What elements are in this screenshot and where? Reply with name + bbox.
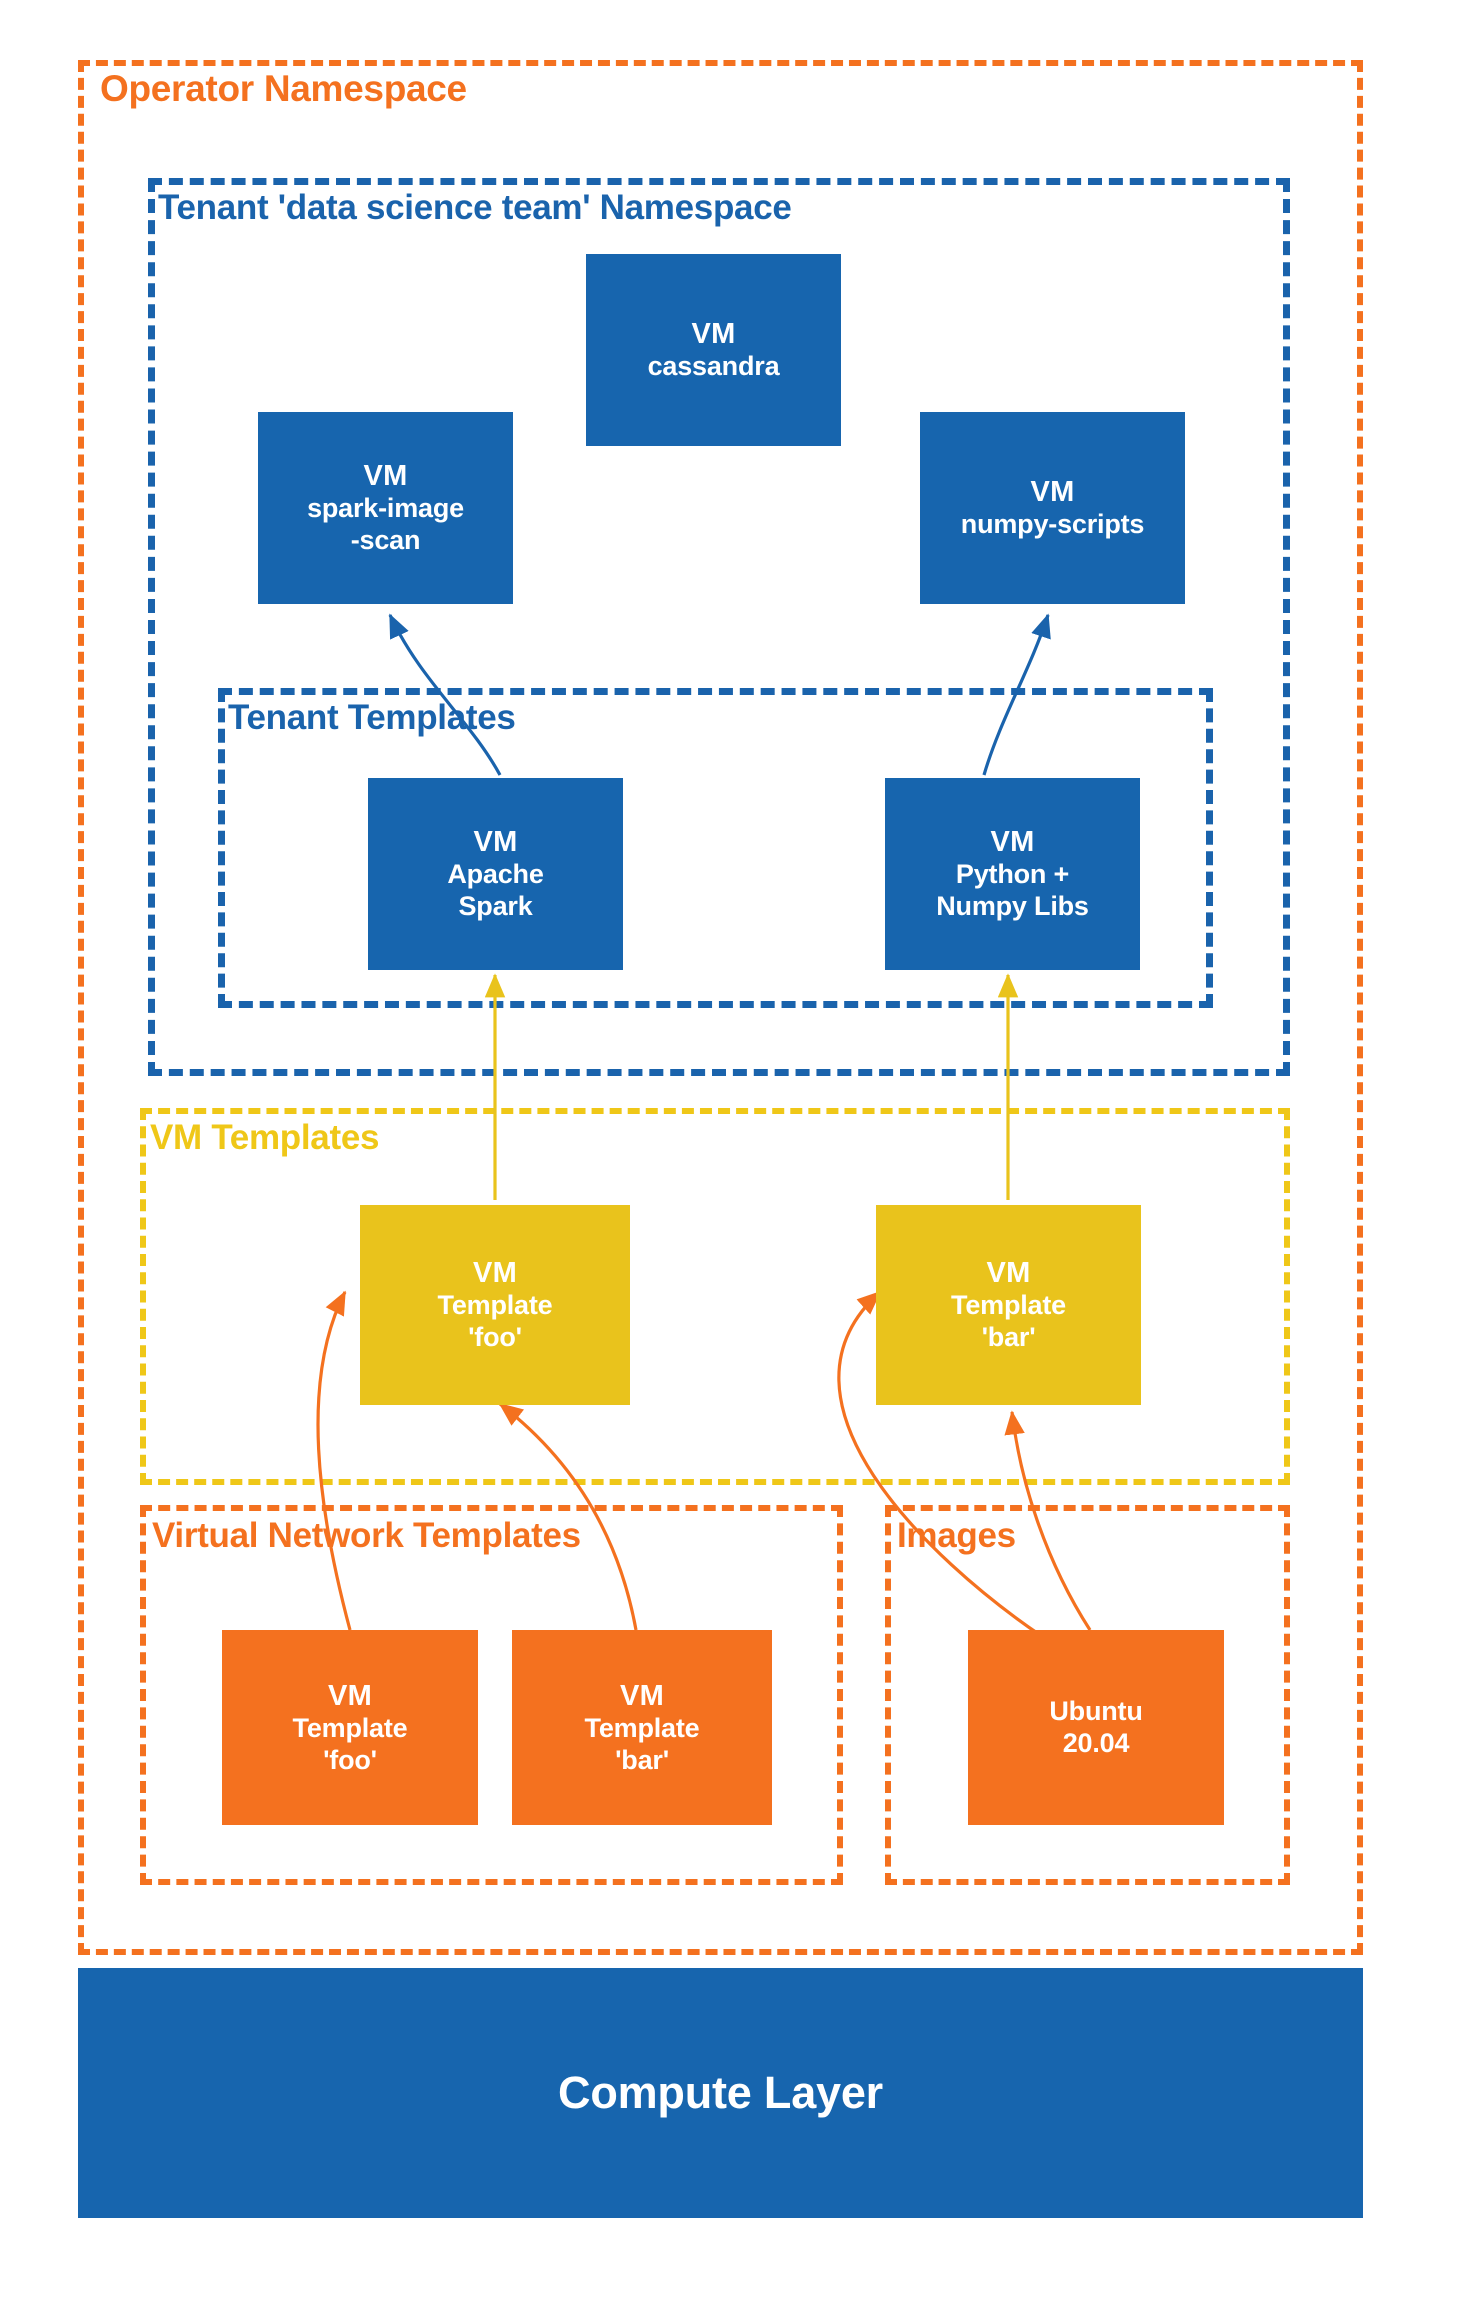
node-kind-label: VM: [473, 825, 517, 859]
node-name-label-line1: Apache: [447, 859, 543, 891]
node-kind-label: VM: [691, 317, 735, 351]
node-kind-label: VM: [986, 1256, 1030, 1290]
node-vnet-template-foo[interactable]: VM Template 'foo': [222, 1630, 478, 1825]
group-label-images: Images: [897, 1518, 1016, 1553]
node-template-apache-spark[interactable]: VM Apache Spark: [368, 778, 623, 970]
group-label-vm-templates: VM Templates: [150, 1120, 379, 1155]
group-label-virtual-network-templates: Virtual Network Templates: [152, 1518, 581, 1553]
node-name-label-line1: spark-image: [307, 493, 464, 525]
node-name-label-line2: 'bar': [615, 1745, 669, 1777]
node-vnet-template-bar[interactable]: VM Template 'bar': [512, 1630, 772, 1825]
node-name-label-line1: Template: [438, 1290, 553, 1322]
group-label-operator-namespace: Operator Namespace: [100, 70, 467, 107]
node-name-label-line1: Ubuntu: [1049, 1696, 1142, 1728]
diagram-canvas: Operator Namespace Tenant 'data science …: [0, 0, 1457, 2316]
node-kind-label: VM: [328, 1679, 372, 1713]
node-vm-template-foo[interactable]: VM Template 'foo': [360, 1205, 630, 1405]
node-name-label-line2: 'foo': [323, 1745, 377, 1777]
group-label-tenant-namespace: Tenant 'data science team' Namespace: [158, 190, 792, 225]
node-name-label-line1: Python +: [956, 859, 1069, 891]
node-name-label-line2: Numpy Libs: [936, 891, 1089, 923]
node-kind-label: VM: [620, 1679, 664, 1713]
group-label-tenant-templates: Tenant Templates: [228, 700, 516, 735]
node-name-label: numpy-scripts: [961, 509, 1144, 541]
node-name-label-line2: 20.04: [1063, 1728, 1130, 1760]
node-kind-label: VM: [363, 459, 407, 493]
node-template-python-numpy[interactable]: VM Python + Numpy Libs: [885, 778, 1140, 970]
node-vm-cassandra[interactable]: VM cassandra: [586, 254, 841, 446]
node-image-ubuntu[interactable]: Ubuntu 20.04: [968, 1630, 1224, 1825]
compute-layer-label: Compute Layer: [558, 2067, 883, 2119]
compute-layer-bar[interactable]: Compute Layer: [78, 1968, 1363, 2218]
node-vm-spark-image-scan[interactable]: VM spark-image -scan: [258, 412, 513, 604]
node-name-label-line1: Template: [585, 1713, 700, 1745]
node-kind-label: VM: [473, 1256, 517, 1290]
node-vm-template-bar[interactable]: VM Template 'bar': [876, 1205, 1141, 1405]
node-name-label-line2: 'bar': [982, 1322, 1036, 1354]
node-kind-label: VM: [1030, 475, 1074, 509]
node-name-label-line2: 'foo': [468, 1322, 522, 1354]
node-kind-label: VM: [990, 825, 1034, 859]
node-vm-numpy-scripts[interactable]: VM numpy-scripts: [920, 412, 1185, 604]
node-name-label-line1: Template: [293, 1713, 408, 1745]
node-name-label: cassandra: [648, 351, 780, 383]
node-name-label-line2: Spark: [458, 891, 532, 923]
node-name-label-line1: Template: [951, 1290, 1066, 1322]
node-name-label-line2: -scan: [351, 525, 421, 557]
